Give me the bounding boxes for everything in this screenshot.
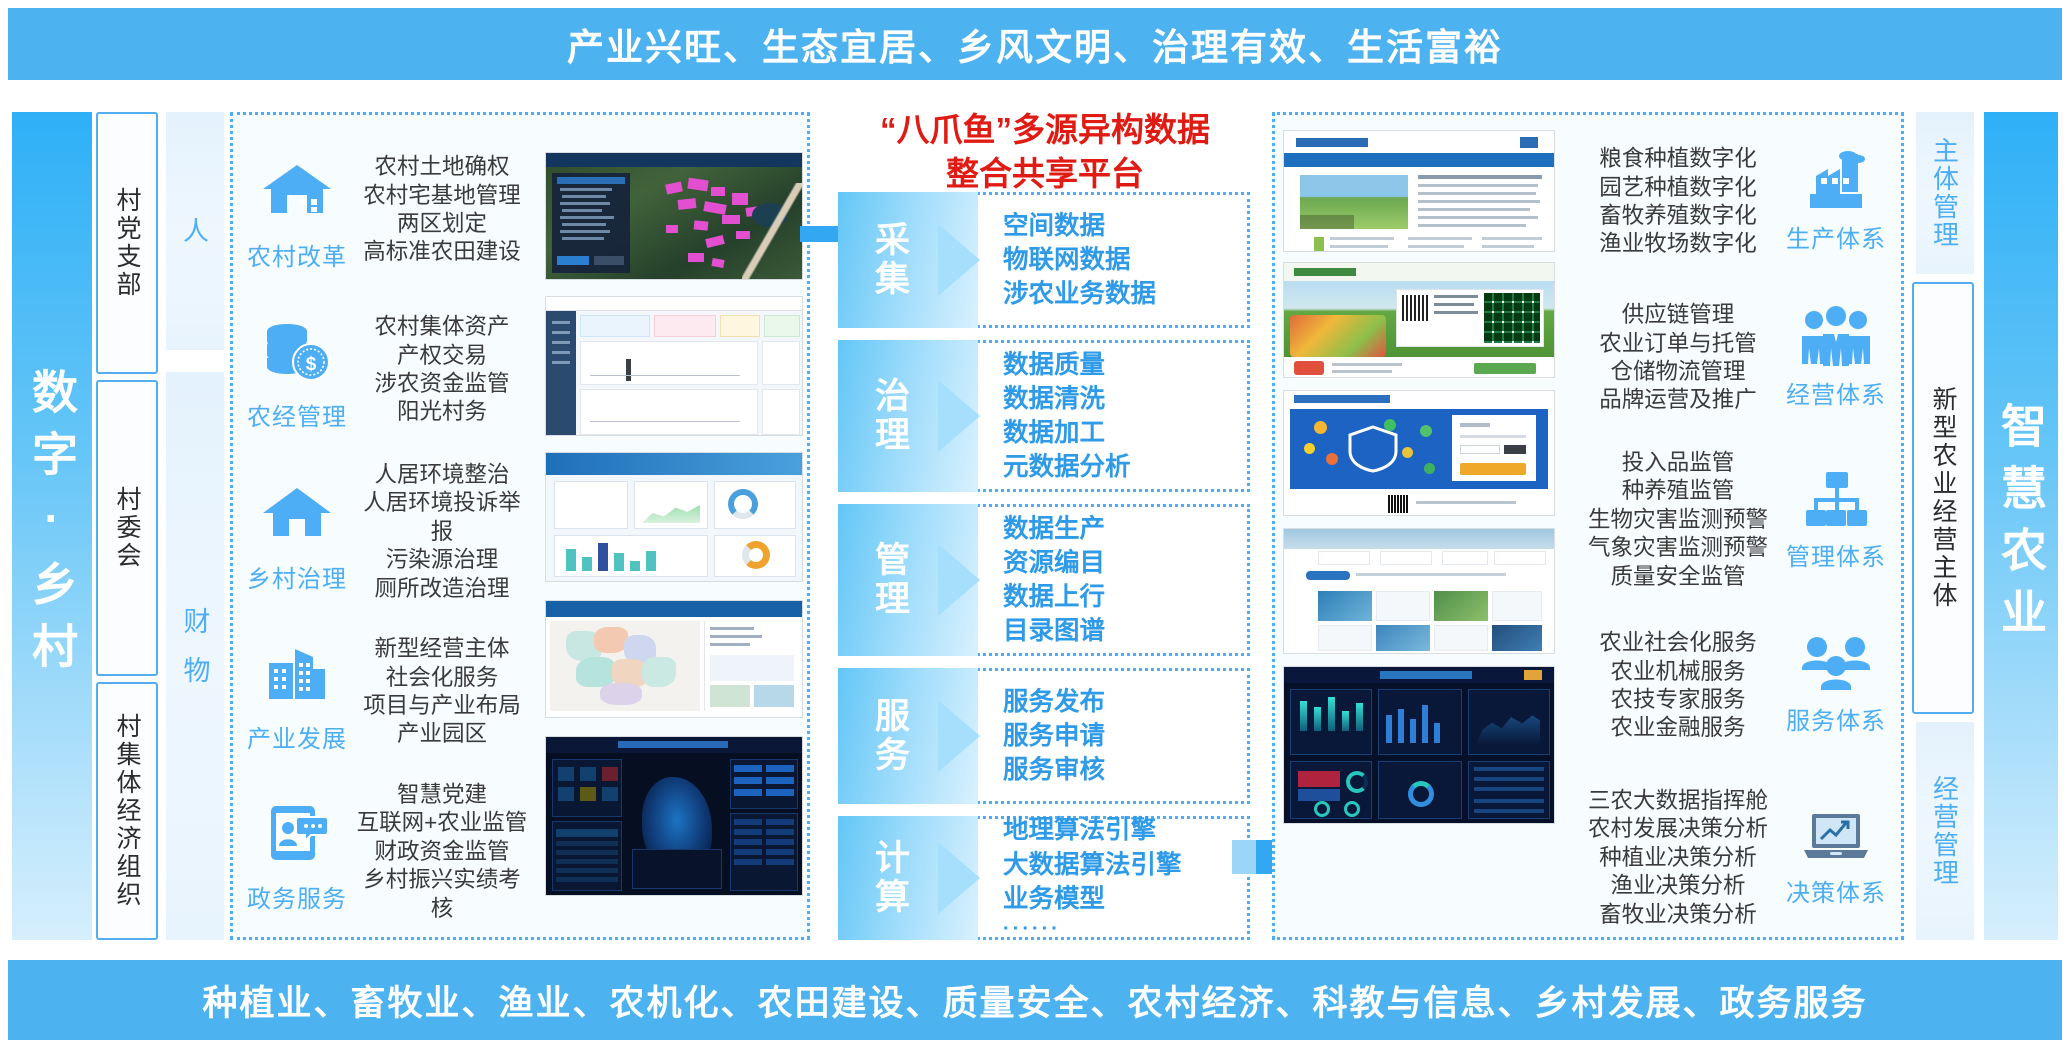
bottom-banner: 种植业、畜牧业、渔业、农机化、农田建设、质量安全、农村经济、科教与信息、乡村发展…: [8, 960, 2062, 1040]
feature-item: 农业金融服务: [1580, 714, 1776, 742]
screenshot-traceability-portal[interactable]: [1283, 262, 1555, 378]
screenshot-big-data-dashboard[interactable]: [1283, 666, 1555, 824]
feature-item: 两区划定: [356, 210, 528, 238]
buildings-icon: [254, 630, 340, 716]
resource-panel-label: 财物: [176, 607, 215, 705]
feature-rural-reform[interactable]: 农村改革 农村土地确权 农村宅基地管理 两区划定 高标准农田建设: [238, 140, 528, 280]
screenshot-industry-layout-map[interactable]: [545, 600, 803, 718]
right-panel-subject-management: 主体管理: [1916, 112, 1974, 274]
feature-label: 经营体系: [1786, 375, 1886, 410]
factory-icon: [1798, 150, 1874, 217]
screenshot-asset-management-console[interactable]: [545, 296, 803, 436]
feature-item: 新型经营主体: [356, 635, 528, 663]
mobile-chat-icon: [254, 790, 340, 876]
resource-panel-finance-assets: 财物: [166, 372, 224, 940]
feature-production-system[interactable]: 粮食种植数字化 园艺种植数字化 畜牧养殖数字化 渔业牧场数字化 生产体系: [1580, 132, 1896, 272]
stage-items: 数据生产 资源编目 数据上行 目录图谱: [1003, 504, 1242, 656]
stage-chevron-point: [938, 842, 980, 914]
stage-chevron: 管理: [838, 504, 978, 656]
feature-item: 畜牧养殖数字化: [1580, 202, 1776, 230]
stage-label: 计算: [864, 839, 915, 917]
feature-item: 供应链管理: [1580, 301, 1776, 329]
stage-chevron-point: [938, 380, 980, 452]
feature-items: 供应链管理 农业订单与托管 仓储物流管理 品牌运营及推广: [1580, 301, 1776, 414]
screenshot-safety-login[interactable]: [1283, 390, 1555, 516]
feature-label: 生产体系: [1786, 219, 1886, 254]
screenshot-service-portal-tiles[interactable]: [1283, 528, 1555, 654]
feature-item: 项目与产业布局: [356, 692, 528, 720]
screenshot-governance-dashboard[interactable]: [545, 452, 803, 582]
feature-icon-wrap: 政务服务: [238, 790, 356, 914]
stage-chevron: 采集: [838, 192, 978, 328]
feature-items: 农业社会化服务 农业机械服务 农技专家服务 农业金融服务: [1580, 629, 1776, 742]
feature-item: 农业机械服务: [1580, 658, 1776, 686]
feature-label: 农经管理: [247, 397, 347, 432]
feature-items: 智慧党建 互联网+农业监管 财政资金监管 乡村振兴实绩考核: [356, 781, 528, 923]
feature-industry-development[interactable]: 产业发展 新型经营主体 社会化服务 项目与产业布局 产业园区: [238, 622, 528, 762]
stage-chevron-point: [938, 544, 980, 616]
right-org-unit-new-agri-entity: 新型农业经营主体: [1912, 282, 1974, 714]
feature-item: 气象灾害监测预警: [1580, 534, 1776, 562]
org-unit-label: 新型农业经营主体: [1925, 386, 1961, 610]
feature-item: 渔业牧场数字化: [1580, 230, 1776, 258]
feature-item: 人居环境整治: [356, 461, 528, 489]
stage-item: 数据清洗: [1003, 382, 1242, 416]
feature-label: 农村改革: [247, 237, 347, 272]
right-panel-label: 主体管理: [1927, 137, 1964, 249]
feature-item: 社会化服务: [356, 664, 528, 692]
stage-item: 资源编目: [1003, 546, 1242, 580]
feature-icon-wrap: 决策体系: [1776, 808, 1896, 908]
stage-item: 大数据算法引擎: [1003, 848, 1242, 882]
feature-item: 高标准农田建设: [356, 238, 528, 266]
feature-item: 三农大数据指挥舱: [1580, 787, 1776, 815]
stage-label: 采集: [864, 221, 915, 299]
org-unit-label: 村委会: [109, 486, 145, 570]
right-panel-label: 经营管理: [1927, 775, 1964, 887]
feature-icon-wrap: 经营体系: [1776, 306, 1896, 410]
feature-item: 产业园区: [356, 720, 528, 748]
feature-item: 阳光村务: [356, 398, 528, 426]
screenshot-production-portal[interactable]: [1283, 130, 1555, 252]
stage-chevron: 治理: [838, 340, 978, 492]
feature-item: 种植业决策分析: [1580, 844, 1776, 872]
feature-service-system[interactable]: 农业社会化服务 农业机械服务 农技专家服务 农业金融服务 服务体系: [1580, 616, 1896, 756]
stage-item: 数据生产: [1003, 512, 1242, 546]
feature-item: 厕所改造治理: [356, 575, 528, 603]
top-banner-text: 产业兴旺、生态宜居、乡风文明、治理有效、生活富裕: [567, 17, 1503, 71]
stage-governance[interactable]: 治理 数据质量 数据清洗 数据加工 元数据分析: [838, 340, 1250, 492]
stage-item: 元数据分析: [1003, 450, 1242, 484]
bottom-banner-text: 种植业、畜牧业、渔业、农机化、农田建设、质量安全、农村经济、科教与信息、乡村发展…: [202, 975, 1867, 1026]
feature-item: 乡村振兴实绩考核: [356, 866, 528, 923]
feature-icon-wrap: 管理体系: [1776, 468, 1896, 572]
screenshot-command-center-dark[interactable]: [545, 736, 803, 896]
feature-item: 畜牧业决策分析: [1580, 901, 1776, 929]
stage-item: 服务发布: [1003, 685, 1242, 719]
stage-item: 数据加工: [1003, 416, 1242, 450]
right-rail-title: 智慧农业: [1988, 402, 2054, 650]
feature-icon-wrap: 农村改革: [238, 148, 356, 272]
infographic-root: 产业兴旺、生态宜居、乡风文明、治理有效、生活富裕 种植业、畜牧业、渔业、农机化、…: [0, 0, 2070, 1050]
feature-item: 农村土地确权: [356, 153, 528, 181]
stage-chevron-point: [938, 224, 980, 296]
feature-icon-wrap: 产业发展: [238, 630, 356, 754]
feature-item: 产权交易: [356, 342, 528, 370]
stage-item: 物联网数据: [1003, 243, 1242, 277]
center-title-line1: “八爪鱼”多源异构数据: [845, 108, 1245, 152]
house-roof-icon: [254, 148, 340, 234]
feature-item: 财政资金监管: [356, 838, 528, 866]
feature-operation-system[interactable]: 供应链管理 农业订单与托管 仓储物流管理 品牌运营及推广 经营体系: [1580, 288, 1896, 428]
stage-label: 管理: [864, 541, 915, 619]
stage-chevron-point: [938, 700, 980, 772]
left-rail-title-bar: 数字·乡村: [12, 112, 92, 940]
laptop-chart-icon: [1798, 808, 1874, 871]
feature-item: 涉农资金监管: [356, 370, 528, 398]
feature-item: 品牌运营及推广: [1580, 386, 1776, 414]
three-people-icon: [1798, 636, 1874, 699]
stage-item: ······: [1003, 916, 1242, 943]
feature-item: 农技专家服务: [1580, 686, 1776, 714]
center-title-line2: 整合共享平台: [845, 152, 1245, 196]
feature-item: 农村宅基地管理: [356, 182, 528, 210]
resource-panel-people: 人: [166, 112, 224, 350]
feature-item: 智慧党建: [356, 781, 528, 809]
feature-rural-economy-management[interactable]: $ 农经管理 农村集体资产 产权交易 涉农资金监管 阳光村务: [238, 300, 528, 440]
feature-item: 渔业决策分析: [1580, 872, 1776, 900]
feature-rural-governance[interactable]: 乡村治理 人居环境整治 人居环境投诉举报 污染源治理 厕所改造治理: [238, 462, 528, 602]
feature-icon-wrap: 乡村治理: [238, 470, 356, 594]
stage-items: 地理算法引擎 大数据算法引擎 业务模型 ······: [1003, 816, 1242, 940]
feature-decision-system[interactable]: 三农大数据指挥舱 农村发展决策分析 种植业决策分析 渔业决策分析 畜牧业决策分析…: [1580, 778, 1896, 938]
feature-label: 产业发展: [247, 719, 347, 754]
stage-chevron: 计算: [838, 816, 978, 940]
stage-management[interactable]: 管理 数据生产 资源编目 数据上行 目录图谱: [838, 504, 1250, 656]
feature-label: 服务体系: [1786, 701, 1886, 736]
feature-items: 人居环境整治 人居环境投诉举报 污染源治理 厕所改造治理: [356, 461, 528, 603]
stage-items: 数据质量 数据清洗 数据加工 元数据分析: [1003, 340, 1242, 492]
svg-text:$: $: [306, 354, 317, 375]
feature-item: 农业订单与托管: [1580, 330, 1776, 358]
screenshot-land-rights-map[interactable]: [545, 152, 803, 280]
feature-item: 污染源治理: [356, 546, 528, 574]
right-rail-title-bar: 智慧农业: [1984, 112, 2058, 940]
stage-items: 空间数据 物联网数据 涉农业务数据: [1003, 192, 1242, 328]
top-banner: 产业兴旺、生态宜居、乡风文明、治理有效、生活富裕: [8, 8, 2062, 80]
feature-label: 政务服务: [247, 879, 347, 914]
stage-items: 服务发布 服务申请 服务审核: [1003, 668, 1242, 804]
feature-items: 粮食种植数字化 园艺种植数字化 畜牧养殖数字化 渔业牧场数字化: [1580, 145, 1776, 258]
stage-service[interactable]: 服务 服务发布 服务申请 服务审核: [838, 668, 1250, 804]
feature-item: 粮食种植数字化: [1580, 145, 1776, 173]
stage-label: 服务: [864, 697, 915, 775]
feature-item: 仓储物流管理: [1580, 358, 1776, 386]
org-chart-icon: [1800, 468, 1872, 535]
feature-item: 质量安全监管: [1580, 563, 1776, 591]
stage-item: 空间数据: [1003, 209, 1242, 243]
feature-item: 互联网+农业监管: [356, 809, 528, 837]
center-platform-title: “八爪鱼”多源异构数据 整合共享平台: [845, 108, 1245, 195]
org-unit-collective-economy: 村集体经济组织: [96, 682, 158, 940]
feature-items: 投入品监管 种养殖监管 生物灾害监测预警 气象灾害监测预警 质量安全监管: [1580, 449, 1776, 591]
feature-item: 生物灾害监测预警: [1580, 506, 1776, 534]
stage-item: 目录图谱: [1003, 614, 1242, 648]
feature-management-system[interactable]: 投入品监管 种养殖监管 生物灾害监测预警 气象灾害监测预警 质量安全监管: [1580, 440, 1896, 600]
feature-label: 管理体系: [1786, 537, 1886, 572]
stage-item: 地理算法引擎: [1003, 813, 1242, 847]
feature-item: 农村发展决策分析: [1580, 815, 1776, 843]
stage-item: 服务申请: [1003, 719, 1242, 753]
org-unit-village-committee: 村委会: [96, 380, 158, 676]
stage-computation[interactable]: 计算 地理算法引擎 大数据算法引擎 业务模型 ······: [838, 816, 1250, 940]
people-group-icon: [1798, 306, 1874, 373]
feature-items: 新型经营主体 社会化服务 项目与产业布局 产业园区: [356, 635, 528, 748]
feature-government-services[interactable]: 政务服务 智慧党建 互联网+农业监管 财政资金监管 乡村振兴实绩考核: [238, 782, 528, 922]
stage-collect[interactable]: 采集 空间数据 物联网数据 涉农业务数据: [838, 192, 1250, 328]
feature-label: 决策体系: [1786, 873, 1886, 908]
feature-item: 种养殖监管: [1580, 477, 1776, 505]
feature-items: 三农大数据指挥舱 农村发展决策分析 种植业决策分析 渔业决策分析 畜牧业决策分析: [1580, 787, 1776, 929]
stage-label: 治理: [864, 377, 915, 455]
feature-item: 农村集体资产: [356, 313, 528, 341]
feature-icon-wrap: 生产体系: [1776, 150, 1896, 254]
stage-item: 服务审核: [1003, 753, 1242, 787]
feature-item: 农业社会化服务: [1580, 629, 1776, 657]
feature-item: 园艺种植数字化: [1580, 174, 1776, 202]
stage-item: 数据上行: [1003, 580, 1242, 614]
org-unit-label: 村党支部: [109, 187, 145, 299]
feature-item: 人居环境投诉举报: [356, 489, 528, 546]
right-panel-operation-management: 经营管理: [1916, 722, 1974, 940]
stage-item: 业务模型: [1003, 882, 1242, 916]
feature-items: 农村土地确权 农村宅基地管理 两区划定 高标准农田建设: [356, 153, 528, 266]
feature-label: 乡村治理: [247, 559, 347, 594]
stage-item: 数据质量: [1003, 348, 1242, 382]
stage-chevron: 服务: [838, 668, 978, 804]
connector-left-to-center: [800, 226, 840, 242]
left-rail-title: 数字·乡村: [19, 368, 85, 684]
coins-dollar-icon: $: [254, 308, 340, 394]
org-unit-label: 村集体经济组织: [109, 713, 145, 909]
org-unit-village-party-branch: 村党支部: [96, 112, 158, 374]
resource-panel-label: 人: [177, 217, 214, 245]
feature-icon-wrap: 服务体系: [1776, 636, 1896, 736]
feature-items: 农村集体资产 产权交易 涉农资金监管 阳光村务: [356, 313, 528, 426]
home-icon: [254, 470, 340, 556]
feature-icon-wrap: $ 农经管理: [238, 308, 356, 432]
stage-item: 涉农业务数据: [1003, 277, 1242, 311]
feature-item: 投入品监管: [1580, 449, 1776, 477]
